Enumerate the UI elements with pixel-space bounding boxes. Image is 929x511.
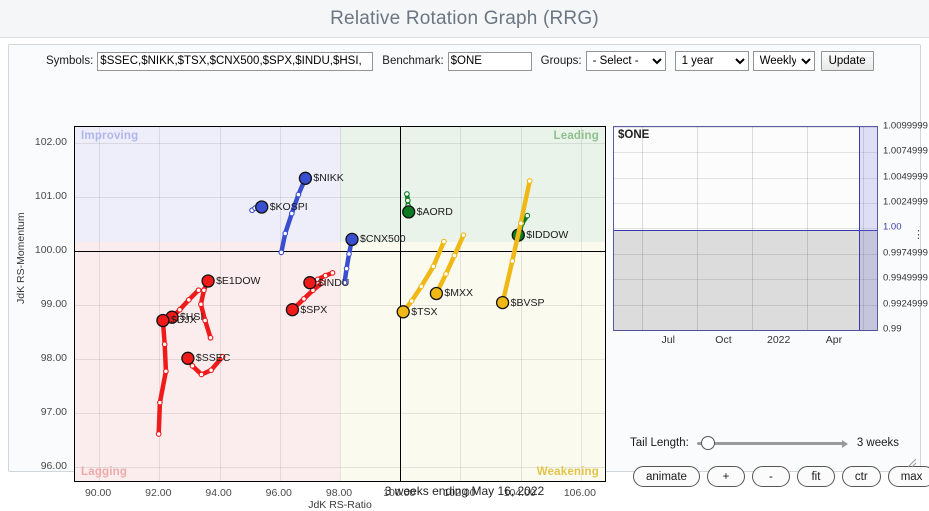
symbols-label: Symbols:: [46, 55, 93, 67]
benchmark-x-tick: Oct: [715, 334, 731, 346]
y-tick-label: 101.00: [19, 190, 67, 202]
benchmark-input[interactable]: [448, 52, 532, 71]
tail-marker: [202, 288, 207, 293]
series-head-cnx500[interactable]: [346, 233, 358, 245]
tail-marker: [279, 250, 284, 255]
benchmark-y-tick: 1.00: [883, 222, 902, 233]
tail-marker: [344, 266, 349, 271]
benchmark-title: $ONE: [618, 129, 649, 141]
benchmark-y-tick: 0.99: [883, 324, 902, 335]
tail-marker: [452, 253, 457, 258]
series-head-kospi[interactable]: [256, 201, 268, 213]
tail-marker: [302, 297, 307, 302]
series-head-nikk[interactable]: [299, 172, 311, 184]
y-tick-label: 96.00: [19, 460, 67, 472]
benchmark-y-tick: 0.9924999: [883, 298, 928, 309]
series-label-cnx500: $CNX500: [360, 233, 406, 245]
quadrant-label-lagging: Lagging: [81, 466, 127, 478]
series-head-tsx[interactable]: [397, 306, 409, 318]
tail-marker: [347, 252, 352, 257]
tail-marker: [431, 264, 436, 269]
footer-caption: 3 weeks ending May 16, 2022: [0, 484, 929, 498]
tail-marker: [199, 372, 204, 377]
tail-length-slider-knob[interactable]: [701, 436, 715, 450]
series-label-tsx: $TSX: [411, 306, 437, 318]
rrg-plot-area[interactable]: $NIKK$KOSPI$CNX500$AORD$IDDOW$TSX$MXX$BV…: [74, 126, 606, 482]
benchmark-y-tick: 1.0049999: [883, 171, 928, 182]
quadrant-label-leading: Leading: [554, 130, 600, 142]
series-label-mxx: $MXX: [444, 287, 473, 299]
resize-handle-icon[interactable]: [905, 456, 917, 468]
benchmark-x-tick: Apr: [826, 334, 842, 346]
tail-marker: [406, 198, 411, 203]
tail-marker: [442, 239, 447, 244]
benchmark-label: Benchmark:: [382, 55, 443, 67]
tail-marker: [158, 400, 163, 405]
rrg-panel: Symbols: Benchmark: Groups: - Select - 1…: [8, 44, 921, 472]
series-head-spx[interactable]: [286, 304, 298, 316]
series-tail-mxx: [436, 235, 463, 293]
benchmark-x-tick: 2022: [767, 334, 790, 346]
frequency-select[interactable]: Weekly: [753, 51, 815, 71]
series-label-indu: $INDU: [318, 277, 350, 289]
series-head-ssec[interactable]: [182, 352, 194, 364]
benchmark-baseline: [614, 230, 877, 232]
benchmark-gridline-h: [614, 203, 877, 204]
groups-label: Groups:: [541, 55, 582, 67]
benchmark-gridline-h: [614, 152, 877, 153]
tail-marker: [296, 192, 301, 197]
symbols-input[interactable]: [97, 52, 373, 71]
x-axis-label: JdK RS-Ratio: [74, 499, 606, 511]
series-head-indu[interactable]: [304, 277, 316, 289]
tail-marker: [209, 368, 214, 373]
benchmark-gridline-h: [614, 178, 877, 179]
benchmark-chart[interactable]: $ONE: [613, 126, 878, 331]
benchmark-y-tick: 0.9949999: [883, 273, 928, 284]
y-tick-label: 98.00: [19, 352, 67, 364]
benchmark-y-tick: 1.0024999: [883, 197, 928, 208]
series-label-iddow: $IDDOW: [526, 229, 568, 241]
tail-marker: [461, 233, 466, 238]
benchmark-gridline-v: [642, 127, 643, 330]
tail-marker: [283, 231, 288, 236]
series-label-kospi: $KOSPI: [270, 201, 308, 213]
tail-length-row: Tail Length: 3 weeks: [630, 433, 920, 453]
tail-marker: [405, 192, 410, 197]
groups-select[interactable]: - Select -: [586, 51, 666, 71]
benchmark-gridline-h: [614, 305, 877, 306]
toolbar: Symbols: Benchmark: Groups: - Select - 1…: [9, 45, 922, 77]
series-head-djx[interactable]: [157, 315, 169, 327]
tail-marker: [203, 318, 208, 323]
tail-marker: [527, 179, 532, 184]
tail-marker: [187, 298, 192, 303]
series-label-nikk: $NIKK: [313, 172, 343, 184]
tail-marker: [330, 271, 335, 276]
benchmark-gridline-h: [614, 330, 877, 331]
tail-length-slider[interactable]: [697, 442, 845, 445]
tail-marker: [409, 299, 414, 304]
benchmark-x-tick: Jul: [662, 334, 675, 346]
series-label-e1dow: $E1DOW: [216, 275, 260, 287]
tail-marker: [196, 288, 201, 293]
benchmark-y-tick: 1.0074999: [883, 146, 928, 157]
benchmark-y-tick: 1.0099999: [883, 121, 928, 132]
y-tick-label: 97.00: [19, 406, 67, 418]
series-label-djx: $DJX: [171, 314, 197, 326]
series-label-aord: $AORD: [417, 206, 453, 218]
rrg-plot-wrap: 96.0097.0098.0099.00100.00101.00102.00 9…: [19, 78, 607, 468]
tail-marker: [525, 213, 530, 218]
tail-marker: [162, 342, 167, 347]
series-tail-djx: [159, 321, 166, 435]
benchmark-gridline-v: [697, 127, 698, 330]
tail-marker: [444, 272, 449, 277]
tail-marker: [190, 364, 195, 369]
benchmark-gridline-v: [752, 127, 753, 330]
benchmark-y-tick: 0.9974999: [883, 247, 928, 258]
series-head-e1dow[interactable]: [202, 275, 214, 287]
quadrant-label-improving: Improving: [81, 130, 138, 142]
benchmark-selection-highlight[interactable]: [859, 127, 877, 330]
update-button[interactable]: Update: [821, 51, 874, 71]
benchmark-gridline-v: [807, 127, 808, 330]
y-axis-label: JdK RS-Momentum: [15, 212, 27, 304]
tail-length-label: Tail Length:: [630, 437, 689, 449]
tail-marker: [164, 369, 169, 374]
tail-marker: [156, 432, 161, 437]
benchmark-gridline-h: [614, 254, 877, 255]
tail-length-value: 3 weeks: [857, 437, 899, 449]
series-head-aord[interactable]: [403, 206, 415, 218]
series-tail-bvsp: [503, 181, 530, 303]
tail-marker: [518, 221, 523, 226]
benchmark-gridline-h: [614, 127, 877, 128]
tail-marker: [419, 284, 424, 289]
tail-marker: [208, 336, 213, 341]
series-label-spx: $SPX: [300, 304, 327, 316]
series-label-bvsp: $BVSP: [511, 297, 545, 309]
app-header: Relative Rotation Graph (RRG): [0, 0, 929, 38]
benchmark-menu-icon[interactable]: ⋮: [913, 228, 925, 241]
tail-marker: [510, 259, 515, 264]
benchmark-gridline-h: [614, 279, 877, 280]
series-label-ssec: $SSEC: [196, 352, 230, 364]
benchmark-panel: $ONE 1.00999991.00749991.00499991.002499…: [613, 78, 913, 468]
series-head-bvsp[interactable]: [497, 297, 509, 309]
rrg-app: Relative Rotation Graph (RRG) Symbols: B…: [0, 0, 929, 511]
quadrant-label-weakening: Weakening: [537, 466, 599, 478]
period-select[interactable]: 1 year: [675, 51, 749, 71]
page-title: Relative Rotation Graph (RRG): [330, 8, 599, 30]
y-tick-label: 102.00: [19, 136, 67, 148]
series-head-mxx[interactable]: [430, 288, 442, 300]
tail-marker: [199, 302, 204, 307]
